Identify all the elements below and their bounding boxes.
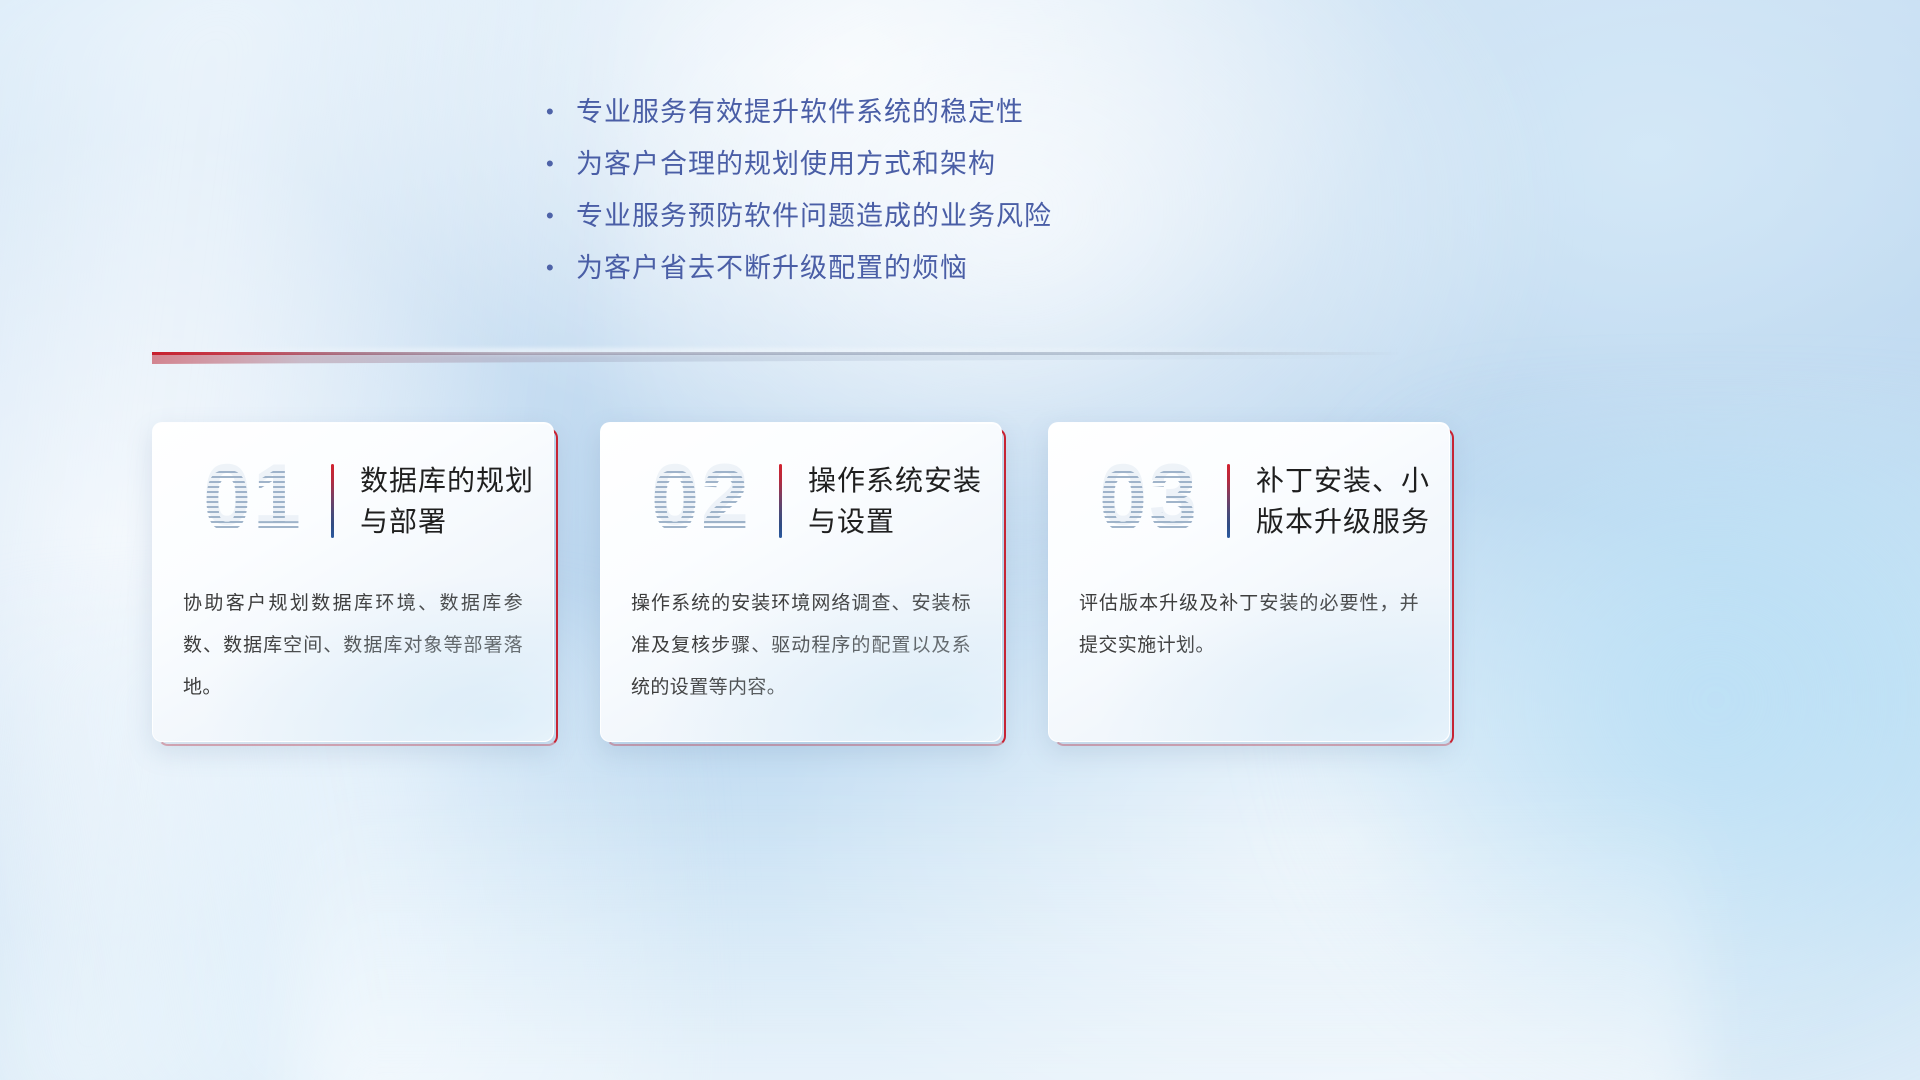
slide-canvas: • 专业服务有效提升软件系统的稳定性 • 为客户合理的规划使用方式和架构 • 专… [0,0,1920,1080]
card-body-text: 评估版本升级及补丁安装的必要性，并提交实施计划。 [1079,583,1419,667]
card-body-text: 操作系统的安装环境网络调查、安装标准及复核步骤、驱动程序的配置以及系统的设置等内… [631,583,971,709]
card-header: 03 03 补丁安装、小 版本升级服务 [1049,445,1449,557]
bullet-dot-icon: • [540,144,576,184]
bullet-dot-icon: • [540,92,576,132]
service-card-group: 01 01 数据库的规划 与部署 协助客户规划数据库环境、数据库参数、数据库空间… [152,422,1768,742]
decorative-divider-ribbon [152,348,1400,364]
card-panel: 03 03 补丁安装、小 版本升级服务 评估版本升级及补丁安装的必要性，并提交实… [1048,422,1450,742]
bullet-dot-icon: • [540,196,576,236]
card-body-text: 协助客户规划数据库环境、数据库参数、数据库空间、数据库对象等部署落地。 [183,583,523,709]
card-header: 01 01 数据库的规划 与部署 [153,445,553,557]
card-header: 02 02 操作系统安装 与设置 [601,445,1001,557]
bullet-dot-icon: • [540,248,576,288]
ribbon-body [152,355,1400,364]
card-title: 补丁安装、小 版本升级服务 [1256,460,1430,542]
bullet-text: 专业服务有效提升软件系统的稳定性 [576,92,1024,132]
card-divider-line [1227,464,1230,538]
list-item: • 专业服务有效提升软件系统的稳定性 [540,92,1380,144]
card-divider-line [331,464,334,538]
background-glow-bottom [300,780,1700,1080]
card-number: 03 [1075,451,1223,551]
card-panel: 02 02 操作系统安装 与设置 操作系统的安装环境网络调查、安装标准及复核步骤… [600,422,1002,742]
bullet-text: 专业服务预防软件问题造成的业务风险 [576,196,1052,236]
benefits-bullet-list: • 专业服务有效提升软件系统的稳定性 • 为客户合理的规划使用方式和架构 • 专… [540,92,1380,300]
card-title: 操作系统安装 与设置 [808,460,982,542]
list-item: • 为客户省去不断升级配置的烦恼 [540,248,1380,300]
bullet-text: 为客户省去不断升级配置的烦恼 [576,248,968,288]
service-card-01[interactable]: 01 01 数据库的规划 与部署 协助客户规划数据库环境、数据库参数、数据库空间… [152,422,552,740]
service-card-03[interactable]: 03 03 补丁安装、小 版本升级服务 评估版本升级及补丁安装的必要性，并提交实… [1048,422,1448,740]
list-item: • 专业服务预防软件问题造成的业务风险 [540,196,1380,248]
card-divider-line [779,464,782,538]
service-card-02[interactable]: 02 02 操作系统安装 与设置 操作系统的安装环境网络调查、安装标准及复核步骤… [600,422,1000,740]
card-number: 02 [627,451,775,551]
ribbon-gloss [152,348,1400,354]
card-title: 数据库的规划 与部署 [360,460,534,542]
list-item: • 为客户合理的规划使用方式和架构 [540,144,1380,196]
bullet-text: 为客户合理的规划使用方式和架构 [576,144,996,184]
card-number: 01 [179,451,327,551]
card-panel: 01 01 数据库的规划 与部署 协助客户规划数据库环境、数据库参数、数据库空间… [152,422,554,742]
